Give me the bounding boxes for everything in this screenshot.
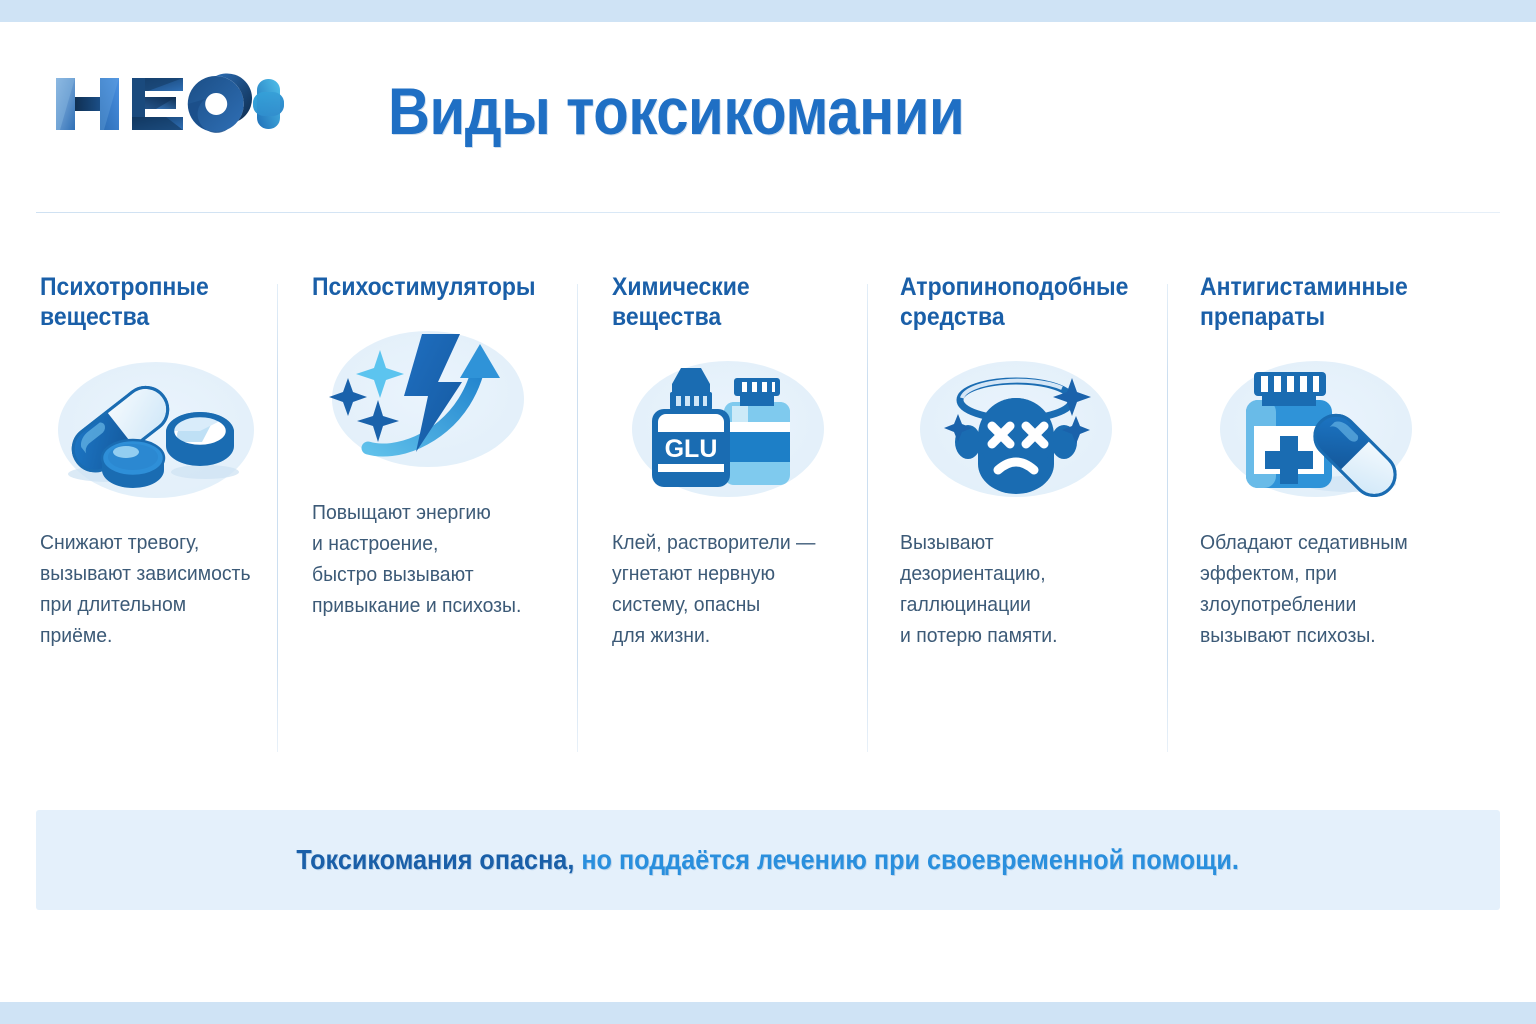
category-description: Повыщают энергию и настроение, быстро вы…: [312, 498, 556, 622]
category-description: Клей, растворители — угнетают нервную си…: [612, 528, 847, 652]
category-title: Психостимуляторы: [312, 272, 544, 302]
category-psychostimulants: Психостимуляторы: [286, 272, 586, 762]
medicine-bottle-capsule-icon: [1200, 354, 1432, 504]
category-description: Обладают седативным эффектом, при злоупо…: [1200, 528, 1456, 652]
glue-label: GLU: [665, 435, 718, 463]
category-title: Химические вещества: [612, 272, 835, 332]
category-description: Вызывают дезориентацию, галлюцинации и п…: [900, 528, 1146, 652]
column-divider: [867, 284, 868, 752]
neo-plus-logo: [48, 70, 288, 138]
bottom-accent-band: [0, 1002, 1536, 1024]
column-divider: [1167, 284, 1168, 752]
top-accent-band: [0, 0, 1536, 22]
summary-banner: Токсикомания опасна, но поддаётся лечени…: [36, 810, 1500, 910]
column-divider: [277, 284, 278, 752]
dizzy-face-icon: [900, 354, 1132, 504]
pills-capsule-tablets-icon: [40, 354, 272, 504]
category-title: Антигистаминные препараты: [1200, 272, 1443, 332]
category-description: Снижают тревогу, вызывают зависимость пр…: [40, 528, 257, 652]
summary-text-light: но поддаётся лечению при своевременной п…: [575, 844, 1240, 875]
category-chemicals: Химические вещества: [586, 272, 876, 762]
category-atropine-like: Атропиноподобные средства: [876, 272, 1176, 762]
category-psychotropic: Психотропные вещества: [0, 272, 286, 762]
glue-solvent-bottles-icon: GLU: [612, 354, 844, 504]
page-title: Виды токсикомании: [388, 78, 964, 144]
category-antihistamines: Антигистаминные препараты: [1176, 272, 1486, 762]
header-divider-rule: [36, 212, 1500, 213]
summary-text: Токсикомания опасна, но поддаётся лечени…: [297, 844, 1240, 876]
column-divider: [577, 284, 578, 752]
category-title: Психотропные вещества: [40, 272, 246, 332]
categories-row: Психотропные вещества: [0, 272, 1536, 762]
page-header: Виды токсикомании: [0, 22, 1536, 190]
category-title: Атропиноподобные средства: [900, 272, 1134, 332]
summary-text-strong: Токсикомания опасна,: [297, 844, 575, 875]
neo-plus-logo-icon: [48, 70, 284, 138]
lightning-bolt-arrow-sparkles-icon: [312, 324, 544, 474]
